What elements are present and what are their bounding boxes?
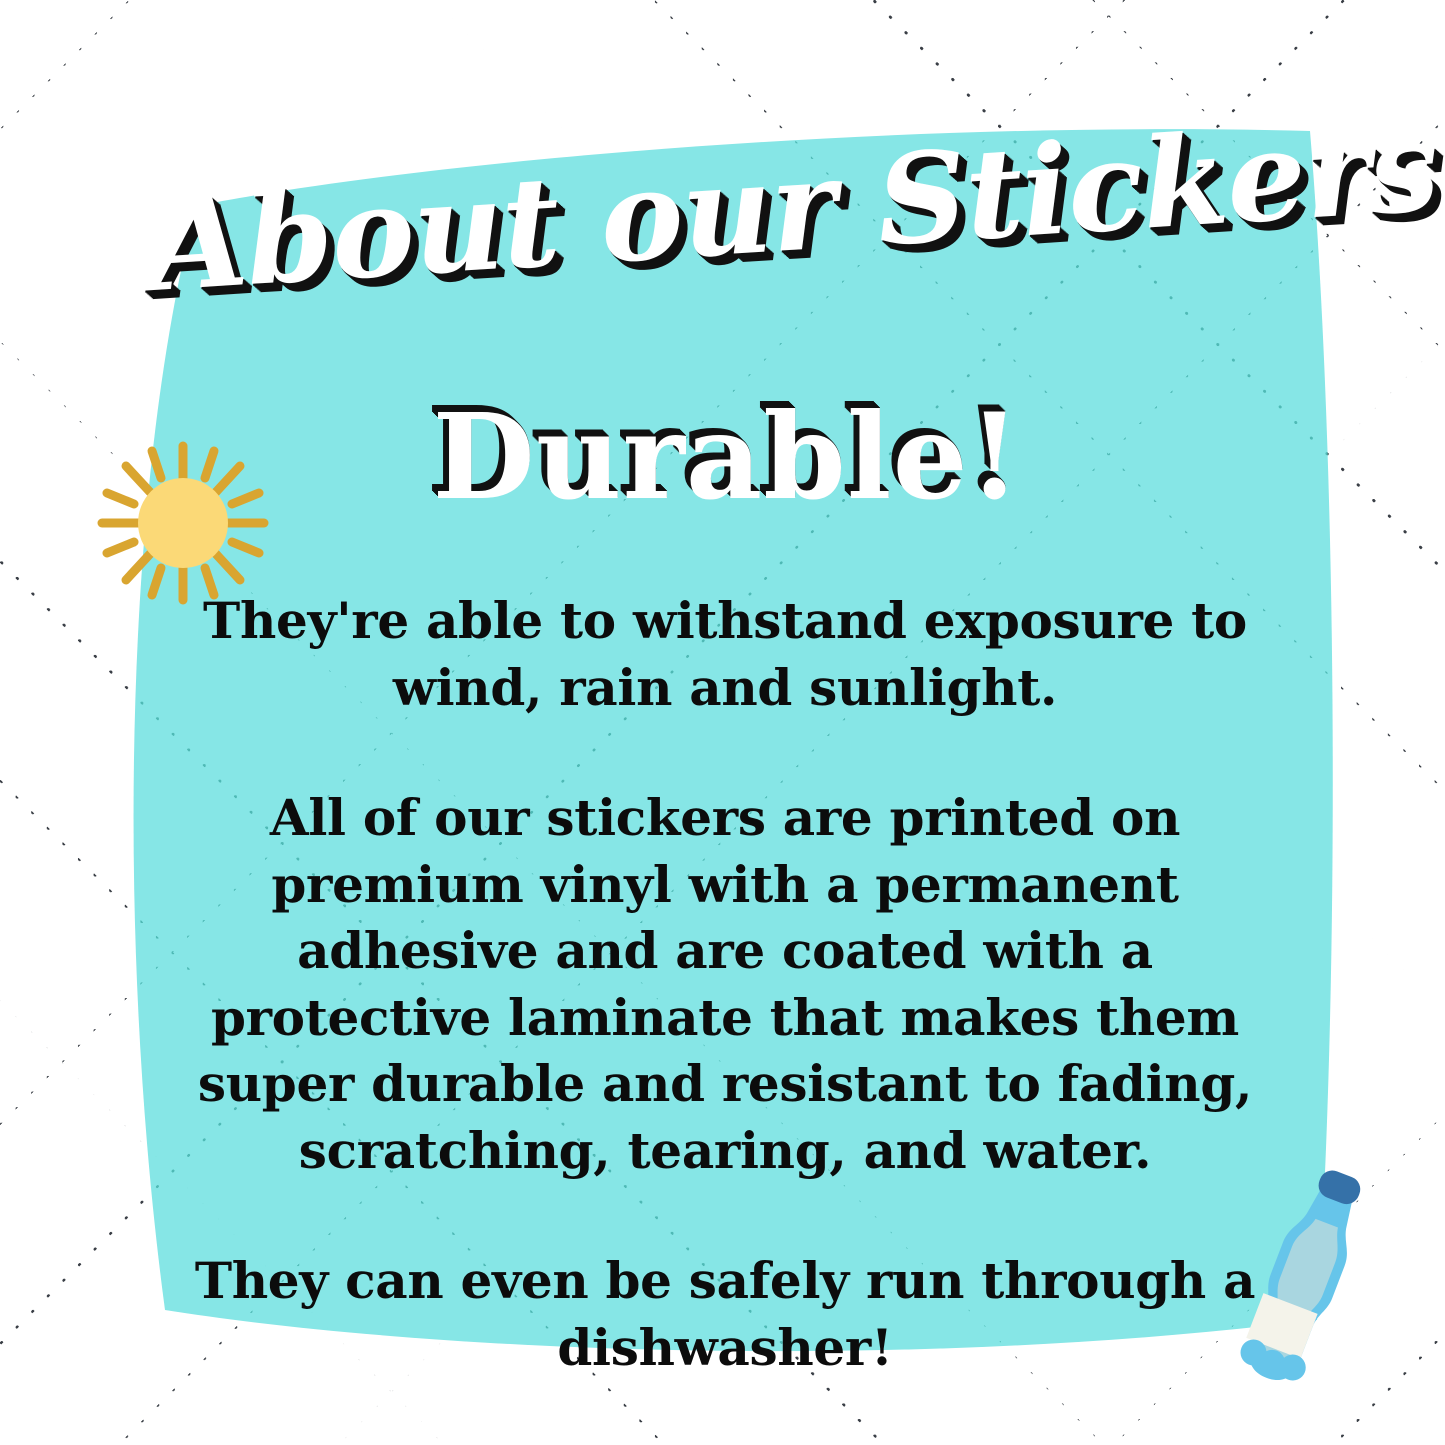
paragraph-spacer	[175, 1184, 1275, 1248]
paragraph-3: They can even be safely run through a di…	[175, 1248, 1275, 1381]
poster-canvas: About our Stickers Durable! They're able…	[0, 0, 1445, 1445]
water-bottle-icon	[1205, 1160, 1395, 1420]
body-copy: They're able to withstand exposure to wi…	[175, 588, 1275, 1381]
headline-durable: Durable!	[222, 398, 1232, 516]
page-title: About our Stickers	[147, 114, 1303, 310]
paragraph-2: All of our stickers are printed on premi…	[175, 785, 1275, 1184]
paragraph-spacer	[175, 721, 1275, 785]
paragraph-1: They're able to withstand exposure to wi…	[175, 588, 1275, 721]
